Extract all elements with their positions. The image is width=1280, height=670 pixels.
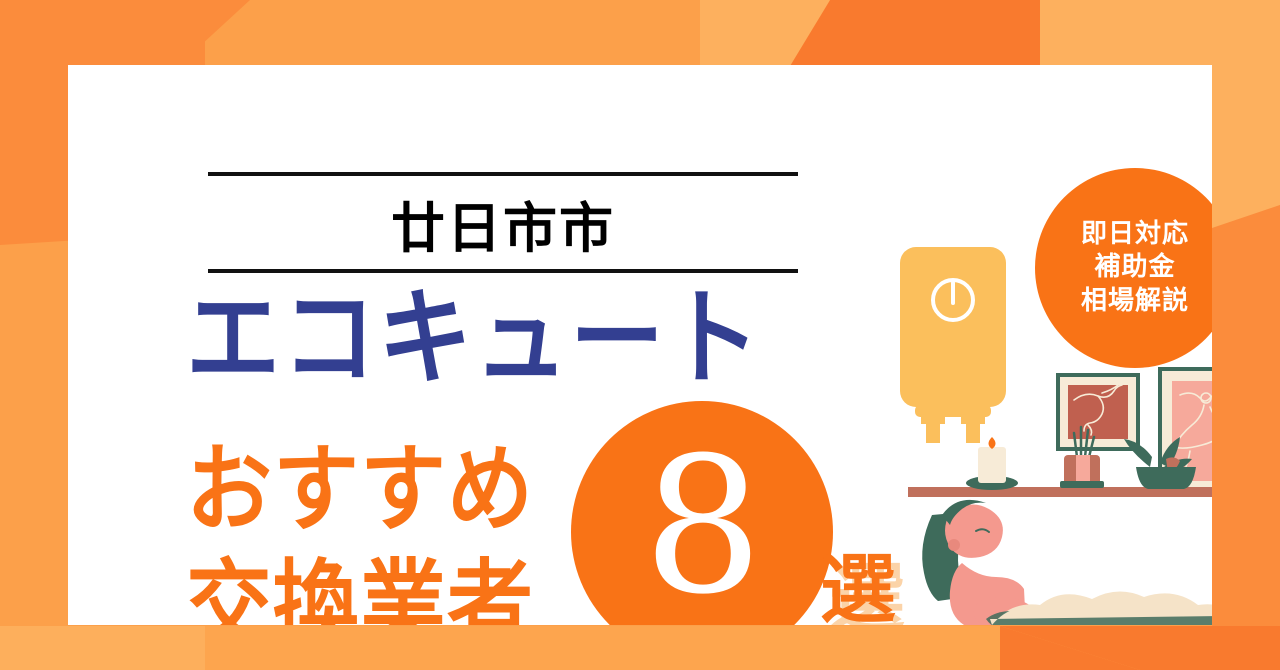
diffuser-base: [1060, 481, 1104, 488]
badge-line-3: 相場解説: [1081, 285, 1189, 318]
water-heater-foot-2: [961, 417, 985, 424]
count-suffix-text: 選: [820, 552, 896, 625]
poster-canvas: 廿日市市 エコキュート おすすめ 交換業者 8 選 選 即日対応 補助金 相場解…: [0, 0, 1280, 670]
bathtub-with-person: [912, 500, 1212, 625]
bg-shape-right-lower: [1212, 205, 1280, 626]
recommend-line-1: おすすめ: [186, 433, 534, 548]
count-suffix: 選 選: [820, 552, 930, 625]
candle-wax: [978, 447, 1006, 483]
water-heater: [900, 247, 1006, 443]
badge-line-1: 即日対応: [1081, 218, 1189, 251]
count-number: 8: [643, 433, 761, 621]
divider-bottom: [208, 269, 798, 273]
bg-shape-bottom-left: [0, 626, 205, 670]
candle: [966, 437, 1018, 490]
city-label: 廿日市市: [208, 193, 798, 265]
bg-shape-right-upper: [1212, 0, 1280, 230]
water-heater-collar: [915, 405, 991, 417]
product-title: エコキュート: [186, 287, 762, 392]
recommend-title: おすすめ 交換業者: [186, 433, 534, 625]
plant-pot: [1136, 467, 1196, 489]
divider-top: [208, 172, 798, 176]
count-badge: 8: [571, 401, 833, 625]
bg-shape-top-mid: [790, 0, 1040, 66]
water-heater-body: [900, 247, 1006, 407]
content-card: 廿日市市 エコキュート おすすめ 交換業者 8 選 選 即日対応 補助金 相場解…: [68, 65, 1212, 625]
hummingbird-frame: [1056, 373, 1140, 451]
recommend-line-2: 交換業者: [186, 548, 534, 625]
badge-line-2: 補助金: [1094, 251, 1175, 284]
water-heater-foot-1: [921, 417, 945, 424]
person-ear: [948, 539, 960, 551]
diffuser-bottle-highlight: [1076, 455, 1090, 485]
